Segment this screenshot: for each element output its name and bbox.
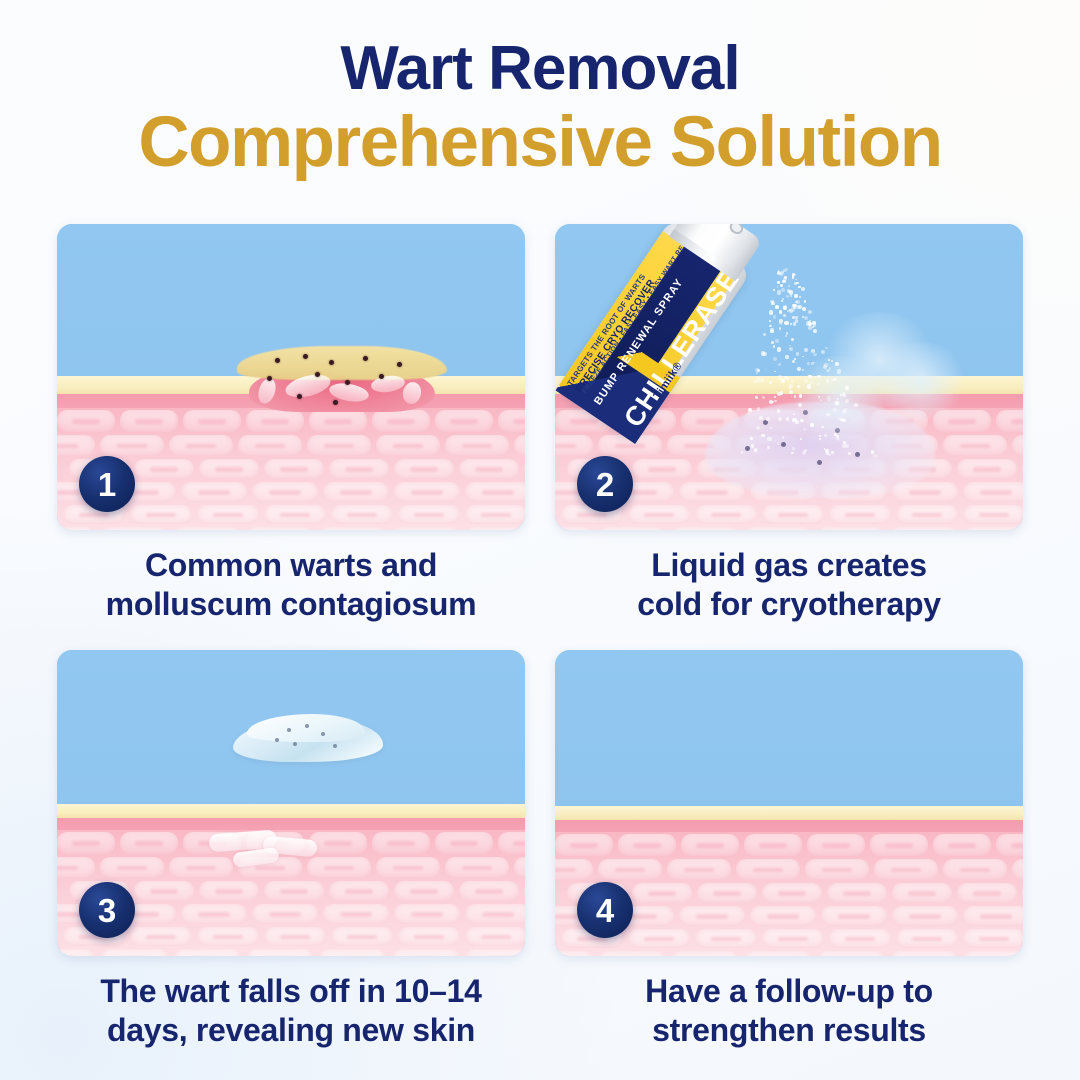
mist-droplet	[803, 428, 805, 430]
page-title-secondary: Comprehensive Solution	[0, 105, 1080, 182]
skin-cell	[963, 929, 1023, 948]
mist-droplet	[794, 395, 796, 397]
skin-cell	[963, 906, 1023, 926]
mist-droplet	[778, 375, 782, 379]
mist-droplet	[757, 407, 760, 410]
step-badge-4: 4	[577, 882, 633, 938]
mist-droplet	[785, 355, 789, 359]
mist-droplet	[797, 367, 801, 371]
mist-droplet	[824, 448, 826, 450]
skin-cell	[323, 482, 389, 502]
skin-cell	[817, 527, 885, 530]
mist-droplet	[813, 324, 816, 327]
mist-droplet	[778, 363, 781, 366]
mist-droplet	[845, 399, 849, 403]
capillary-dot	[333, 400, 338, 405]
mist-droplet	[831, 360, 833, 362]
skin-cell	[57, 410, 115, 432]
skin-cell	[459, 881, 519, 901]
mist-droplet	[854, 403, 858, 407]
step-number: 3	[98, 894, 116, 927]
skin-cell	[598, 951, 666, 956]
step-card-1: 1 Common warts and molluscum contagiosum	[57, 224, 525, 624]
skin-cell	[963, 482, 1023, 502]
step-caption-4: Have a follow-up to strengthen results	[555, 972, 1023, 1050]
skin-cell	[398, 505, 460, 524]
skin-cell	[398, 927, 460, 946]
capillary-dot	[345, 380, 350, 385]
skin-cell	[870, 834, 928, 856]
skin-cell	[173, 527, 241, 530]
skin-cell	[392, 527, 460, 530]
mist-droplet	[759, 416, 762, 419]
mist-droplet	[826, 369, 830, 373]
skin-cell	[199, 881, 259, 901]
step-badge-3: 3	[79, 882, 135, 938]
mist-droplet	[807, 362, 810, 365]
mist-droplet	[807, 384, 811, 388]
skin-cell	[57, 527, 95, 530]
mist-droplet	[791, 452, 793, 454]
mist-droplet	[802, 369, 804, 371]
mist-droplet	[770, 427, 772, 429]
step-caption-1: Common warts and molluscum contagiosum	[57, 546, 525, 624]
step-illustration-3: 3	[57, 650, 525, 956]
skin-cell	[555, 834, 613, 856]
skin-cell	[169, 435, 233, 456]
mist-droplet	[781, 379, 785, 383]
mist-droplet	[792, 447, 795, 450]
skin-cell	[169, 857, 233, 878]
mist-droplet	[828, 359, 830, 361]
step-card-2: CHILLERASE BUMP RENEWAL SPRAY Timiik® FR…	[555, 224, 1023, 624]
mist-droplet	[817, 383, 818, 384]
skin-cell	[264, 927, 326, 946]
skin-cell	[695, 929, 757, 948]
skin-cell	[309, 832, 367, 854]
capillary-dot	[315, 372, 320, 377]
skin-cell	[762, 929, 824, 948]
mist-droplet	[817, 375, 821, 379]
skin-cell	[744, 951, 812, 956]
skin-cell	[618, 834, 676, 856]
skin-cell	[598, 527, 666, 530]
skin-cell	[963, 951, 1023, 956]
skin-cell	[933, 834, 991, 856]
skin-cell	[252, 482, 318, 502]
mist-droplet	[789, 348, 791, 350]
skin-cell	[181, 904, 247, 924]
step-caption-2: Liquid gas creates cold for cryotherapy	[555, 546, 1023, 624]
skin-cell	[264, 459, 324, 479]
step-number: 1	[98, 468, 116, 501]
skin-cell	[628, 929, 690, 948]
mist-droplet	[774, 371, 776, 373]
skin-cell	[319, 527, 387, 530]
skin-cell	[331, 927, 393, 946]
mist-droplet	[808, 326, 812, 330]
skin-cell	[246, 527, 314, 530]
skin-cell	[667, 859, 731, 880]
mist-droplet	[845, 444, 849, 448]
skin-cell	[817, 951, 885, 956]
skin-cell	[555, 435, 593, 456]
skin-cell	[323, 904, 389, 924]
mist-droplet	[809, 320, 811, 322]
mist-droplet	[813, 329, 817, 333]
mist-droplet	[778, 417, 782, 421]
skin-cell	[465, 949, 525, 956]
skin-cell	[252, 904, 318, 924]
skin-cell	[134, 459, 194, 479]
mist-droplet	[821, 350, 825, 354]
mist-droplet	[791, 380, 794, 383]
step-number: 2	[596, 468, 614, 501]
skin-cell	[514, 857, 525, 878]
step-caption-3: The wart falls off in 10–14 days, reveal…	[57, 972, 525, 1050]
step-illustration-2: CHILLERASE BUMP RENEWAL SPRAY Timiik® FR…	[555, 224, 1023, 530]
mist-droplet	[813, 353, 817, 357]
skin-cell	[555, 527, 593, 530]
skin-cell	[524, 459, 525, 479]
capillary-dot	[297, 394, 302, 399]
skin-cell	[671, 951, 739, 956]
mist-droplet	[801, 419, 804, 422]
mist-droplet	[826, 413, 830, 417]
skin-cell	[829, 505, 891, 524]
skin-cell	[744, 834, 802, 856]
skin-cell	[392, 949, 460, 956]
skin-cell	[555, 951, 593, 956]
mist-droplet	[782, 436, 785, 439]
skin-cell	[736, 859, 800, 880]
mist-droplet	[792, 360, 795, 363]
capillary-dot	[329, 360, 334, 365]
mist-droplet	[775, 440, 777, 442]
skin-cell	[762, 883, 822, 903]
mist-droplet	[755, 396, 758, 399]
skin-cell	[465, 927, 525, 946]
skin-cell	[598, 859, 662, 880]
skin-cell	[57, 857, 95, 878]
mist-droplet	[767, 446, 770, 449]
mist-droplet	[810, 381, 813, 384]
mist-droplet	[837, 369, 841, 373]
skin-cell	[555, 859, 593, 880]
step-card-3: 3 The wart falls off in 10–14 days, reve…	[57, 650, 525, 1050]
mist-droplet	[774, 400, 777, 403]
skin-cell	[197, 927, 259, 946]
skin-cell	[134, 881, 194, 901]
mist-droplet	[798, 403, 802, 407]
mist-droplet	[835, 362, 839, 366]
mist-droplet	[804, 348, 808, 352]
skin-cell	[465, 527, 525, 530]
mist-droplet	[842, 392, 845, 395]
skin-cell	[329, 459, 389, 479]
mist-droplet	[808, 375, 812, 379]
skin-cell	[331, 505, 393, 524]
wart-lesion	[237, 346, 447, 418]
mist-droplet	[827, 396, 831, 400]
mist-droplet	[791, 396, 792, 397]
mist-droplet	[826, 379, 829, 382]
skin-cell	[100, 949, 168, 956]
skin-cell	[120, 410, 178, 432]
skin-cell	[1012, 435, 1023, 456]
step-badge-1: 1	[79, 456, 135, 512]
skin-cell	[57, 832, 115, 854]
mist-droplet	[774, 396, 776, 398]
mist-droplet	[833, 408, 837, 412]
mist-droplet	[842, 419, 845, 422]
skin-cell	[697, 883, 757, 903]
mist-droplet	[769, 381, 772, 384]
mist-droplet	[804, 449, 807, 452]
skin-cell	[744, 527, 812, 530]
skin-cell	[130, 927, 192, 946]
skin-cell	[120, 832, 178, 854]
mist-droplet	[761, 434, 764, 437]
capillary-dot	[275, 358, 280, 363]
scab-highlight	[247, 714, 365, 742]
mist-droplet	[848, 452, 852, 456]
skin-cell	[445, 435, 509, 456]
skin-cell	[750, 906, 816, 926]
skin-cell	[307, 857, 371, 878]
skin-cell	[681, 834, 739, 856]
mist-droplet	[833, 378, 836, 381]
skin-cell	[197, 505, 259, 524]
mist-droplet	[804, 379, 808, 383]
mist-droplet	[824, 434, 827, 437]
mist-droplet	[789, 390, 793, 394]
mist-droplet	[835, 401, 839, 405]
mist-droplet	[777, 409, 781, 413]
skin-cell	[892, 906, 958, 926]
step-number: 4	[596, 894, 614, 927]
mist-droplet	[785, 268, 788, 271]
mist-droplet	[762, 396, 765, 399]
skin-cell	[445, 857, 509, 878]
skin-cell	[996, 410, 1023, 432]
mist-droplet	[792, 418, 796, 422]
frozen-dot	[745, 446, 750, 451]
skin-cell	[130, 505, 192, 524]
mist-droplet	[818, 396, 820, 398]
mist-droplet	[871, 450, 874, 453]
skin-cell	[394, 881, 454, 901]
capillary-dot	[363, 356, 368, 361]
step-illustration-1: 1	[57, 224, 525, 530]
skin-cell	[957, 459, 1017, 479]
skin-cell	[246, 949, 314, 956]
mist-droplet	[820, 399, 822, 401]
skin-cell	[394, 482, 460, 502]
skin-cell	[465, 482, 525, 502]
mist-droplet	[751, 444, 754, 447]
skin-cell	[465, 505, 525, 524]
mist-droplet	[824, 363, 828, 367]
mist-droplet	[794, 274, 796, 276]
skin-cell	[394, 459, 454, 479]
skin-cell	[996, 834, 1023, 856]
mist-droplet	[786, 377, 789, 380]
skin-cell	[376, 435, 440, 456]
skin-cell	[238, 435, 302, 456]
mist-droplet	[819, 438, 820, 439]
mist-droplet	[834, 433, 837, 436]
skin-cell	[498, 832, 525, 854]
mist-droplet	[777, 392, 781, 396]
skin-cell	[372, 832, 430, 854]
mist-droplet	[811, 362, 814, 365]
skin-cell	[57, 435, 95, 456]
skin-cell	[465, 904, 525, 924]
capillary-dot	[397, 362, 402, 367]
skin-cell	[307, 435, 371, 456]
mist-droplet	[777, 442, 779, 444]
skin-cell	[963, 527, 1023, 530]
capillary-dot	[379, 374, 384, 379]
skin-cell	[805, 859, 869, 880]
step-badge-2: 2	[577, 456, 633, 512]
mist-droplet	[767, 437, 771, 441]
mist-droplet	[821, 426, 823, 428]
skin-cell	[827, 883, 887, 903]
infographic-root: Wart Removal Comprehensive Solution	[0, 0, 1080, 1080]
mist-droplet	[844, 408, 847, 411]
skin-cell	[963, 505, 1023, 524]
mist-droplet	[845, 386, 849, 390]
capillary-dot	[267, 376, 272, 381]
skin-cell	[100, 857, 164, 878]
skin-cell	[329, 881, 389, 901]
mist-droplet	[786, 417, 790, 421]
skin-cell	[874, 859, 938, 880]
skin-cell	[173, 949, 241, 956]
skin-cell	[100, 435, 164, 456]
mist-droplet	[796, 352, 800, 356]
mist-droplet	[802, 356, 803, 357]
mist-droplet	[793, 414, 795, 416]
mist-droplet	[819, 435, 821, 437]
skin-cell	[181, 482, 247, 502]
skin-cell	[183, 410, 241, 432]
skin-cell	[435, 832, 493, 854]
skin-cell	[943, 435, 1007, 456]
mist-droplet	[810, 423, 814, 427]
skin-cell	[628, 505, 690, 524]
skin-cell	[514, 435, 525, 456]
mist-droplet	[771, 412, 773, 414]
mist-droplet	[873, 454, 877, 458]
skin-cell	[892, 883, 952, 903]
skin-cell	[394, 904, 460, 924]
mist-droplet	[829, 367, 831, 369]
skin-cell	[57, 949, 95, 956]
skin-cell	[671, 527, 739, 530]
mist-droplet	[837, 398, 839, 400]
skin-cell	[762, 505, 824, 524]
skin-cell	[459, 459, 519, 479]
mist-droplet	[789, 386, 792, 389]
skin-cell	[632, 883, 692, 903]
steps-grid: 1 Common warts and molluscum contagiosum	[57, 224, 1023, 1050]
skin-cell	[1022, 883, 1023, 903]
skin-cell	[829, 929, 891, 948]
step-illustration-4: 4	[555, 650, 1023, 956]
skin-cell	[264, 881, 324, 901]
mist-droplet	[800, 438, 802, 440]
skin-cell	[896, 929, 958, 948]
mist-droplet	[797, 385, 801, 389]
skin-cell	[890, 527, 958, 530]
step-card-4: 4 Have a follow-up to strengthen results	[555, 650, 1023, 1050]
skin-cell	[498, 410, 525, 432]
mist-droplet	[825, 347, 828, 350]
skin-cell	[1012, 859, 1023, 880]
skin-cell	[890, 951, 958, 956]
skin-cell	[807, 834, 865, 856]
skin-cell	[1022, 459, 1023, 479]
skin-cell	[957, 883, 1017, 903]
detached-scab	[233, 712, 383, 768]
skin-cell	[821, 906, 887, 926]
skin-cell	[100, 527, 168, 530]
skin-cell	[679, 906, 745, 926]
mist-droplet	[831, 451, 834, 454]
skin-cell	[896, 505, 958, 524]
page-title-primary: Wart Removal	[0, 36, 1080, 103]
mist-droplet	[799, 394, 802, 397]
skin-cell	[524, 881, 525, 901]
skin-cell	[319, 949, 387, 956]
skin-cell	[199, 459, 259, 479]
skin-cell	[695, 505, 757, 524]
skin-cell	[264, 505, 326, 524]
skin-cell	[943, 859, 1007, 880]
skin-cell	[376, 857, 440, 878]
capillary-dot	[303, 354, 308, 359]
frozen-dot	[817, 460, 822, 465]
heading-block: Wart Removal Comprehensive Solution	[0, 36, 1080, 182]
